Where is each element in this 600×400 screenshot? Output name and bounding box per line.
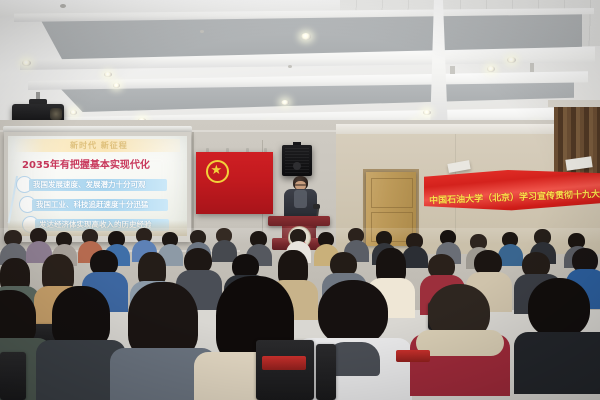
audience	[0, 228, 600, 400]
downlight-icon	[507, 57, 516, 63]
downlight-icon	[22, 60, 31, 66]
downlight-icon	[487, 66, 495, 72]
auditorium-chair-cushion	[262, 356, 306, 370]
wall-loudspeaker	[282, 142, 312, 178]
flag-star-icon: ★	[211, 164, 223, 177]
downlight-icon	[281, 100, 289, 105]
slide-bullet-row: 我国发展速度、发展潜力十分可观	[16, 176, 167, 193]
downlight-icon	[104, 72, 112, 77]
projection-screen: 新时代 新征程 2035年有把握基本实现代化 我国发展速度、发展潜力十分可观 我…	[6, 126, 189, 242]
projector-lens-icon	[50, 108, 62, 120]
auditorium-chair	[316, 344, 336, 400]
slide-bullet-text: 我国工业、科技追赶速度十分迅猛	[32, 199, 168, 211]
downlight-icon	[70, 110, 77, 115]
auditorium-chair	[256, 340, 314, 400]
auditorium-chair	[0, 352, 26, 400]
photo-scene: 新时代 新征程 2035年有把握基本实现代化 我国发展速度、发展潜力十分可观 我…	[0, 0, 600, 400]
slide-header-text: 新时代 新征程	[70, 140, 128, 151]
slide-bullet-text: 我国发展速度、发展潜力十分可观	[29, 179, 167, 191]
slide-bullet-row: 我国工业、科技追赶速度十分迅猛	[19, 196, 168, 213]
slide-title: 2035年有把握基本实现代化	[22, 156, 150, 171]
downlight-icon	[113, 83, 120, 88]
downlight-icon	[301, 33, 311, 40]
downlight-icon	[423, 110, 431, 115]
auditorium-chair-cushion	[396, 350, 430, 362]
red-banner: 中国石油大学（北京）学习宣传贯彻十九大，争当党的好帮手和后备军	[424, 168, 600, 216]
flag-emblem-icon: ★	[206, 160, 229, 183]
ceiling	[0, 0, 600, 132]
podium-top	[268, 216, 330, 226]
